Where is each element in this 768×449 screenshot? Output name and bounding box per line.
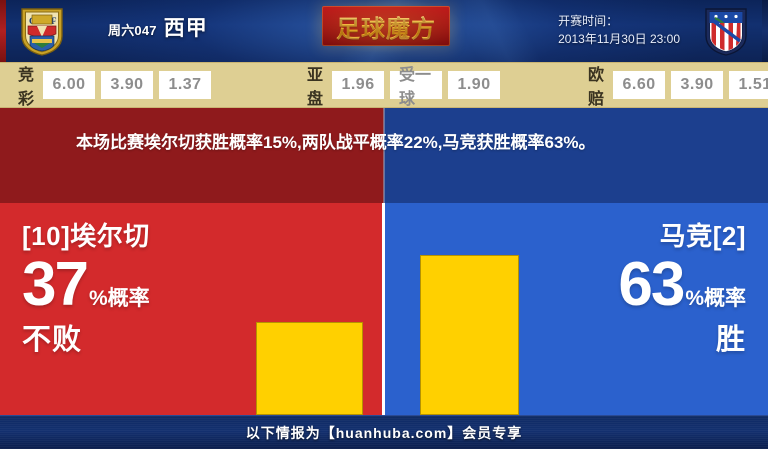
header-bar: C F 周六047 西甲 足球魔方 开赛时间： 2013年11月30日 23:0… <box>0 0 768 62</box>
home-team-crest-icon: C F <box>18 6 66 56</box>
euro-odds-draw[interactable]: 3.90 <box>671 71 723 99</box>
odds-group-label: 欧赔 <box>588 61 605 109</box>
round-label: 周六047 <box>108 20 157 39</box>
home-stat-block: [10]埃尔切 37 %概率 不败 <box>22 220 150 358</box>
home-probability-bar <box>256 322 363 415</box>
euro-odds-away[interactable]: 1.51 <box>729 71 768 99</box>
odds-bar: 竞彩 6.00 3.90 1.37 亚盘 1.96 受一球 1.90 欧赔 6.… <box>0 62 768 108</box>
kickoff-value: 2013年11月30日 23:00 <box>558 30 680 48</box>
summary-text: 本场比赛埃尔切获胜概率15%,两队战平概率22%,马竞获胜概率63%。 <box>76 128 701 158</box>
euro-odds-home[interactable]: 6.60 <box>613 71 665 99</box>
odds-group-asian-handicap: 亚盘 1.96 受一球 1.90 <box>307 61 500 109</box>
site-logo-text: 足球魔方 <box>336 9 436 44</box>
away-probability-bar <box>420 255 519 415</box>
away-outcome-label: 胜 <box>618 322 746 358</box>
away-probability-value: 63 <box>618 254 683 316</box>
header-right-edge-accent <box>762 0 768 62</box>
odds-value-home[interactable]: 6.00 <box>43 71 95 99</box>
odds-group-jingcai: 竞彩 6.00 3.90 1.37 <box>18 61 211 109</box>
odds-value-away[interactable]: 1.37 <box>159 71 211 99</box>
prediction-panels: 本场比赛埃尔切获胜概率15%,两队战平概率22%,马竞获胜概率63%。 [10]… <box>0 108 768 415</box>
odds-group-european: 欧赔 6.60 3.90 1.51 <box>588 61 768 109</box>
odds-group-label: 亚盘 <box>307 61 324 109</box>
home-probability-row: 37 %概率 <box>22 254 150 316</box>
home-probability-value: 37 <box>22 254 87 316</box>
home-probability-unit: %概率 <box>89 288 150 309</box>
away-stat-block: 马竞[2] 63 %概率 胜 <box>618 220 746 358</box>
away-probability-unit: %概率 <box>685 288 746 309</box>
home-team-name: [10]埃尔切 <box>22 220 150 252</box>
odds-group-label: 竞彩 <box>18 61 35 109</box>
footer-text: 以下情报为【huanhuba.com】会员专享 <box>246 423 523 443</box>
match-preview-graphic: C F 周六047 西甲 足球魔方 开赛时间： 2013年11月30日 23:0… <box>0 0 768 449</box>
away-team-name: 马竞[2] <box>618 220 746 252</box>
handicap-value-home[interactable]: 1.96 <box>332 71 384 99</box>
league-info: 周六047 西甲 <box>108 12 208 42</box>
odds-value-draw[interactable]: 3.90 <box>101 71 153 99</box>
site-logo[interactable]: 足球魔方 <box>322 6 450 46</box>
home-outcome-label: 不败 <box>22 322 150 358</box>
kickoff-time-block: 开赛时间： 2013年11月30日 23:00 <box>558 12 680 48</box>
footer-bar: 以下情报为【huanhuba.com】会员专享 <box>0 415 768 449</box>
kickoff-label: 开赛时间： <box>558 12 680 30</box>
panel-divider <box>382 203 385 415</box>
handicap-value-away[interactable]: 1.90 <box>448 71 500 99</box>
header-left-edge-accent <box>0 0 6 62</box>
away-probability-row: 63 %概率 <box>618 254 746 316</box>
away-team-crest-icon <box>702 6 750 56</box>
league-name: 西甲 <box>164 12 208 42</box>
handicap-line[interactable]: 受一球 <box>390 71 442 99</box>
